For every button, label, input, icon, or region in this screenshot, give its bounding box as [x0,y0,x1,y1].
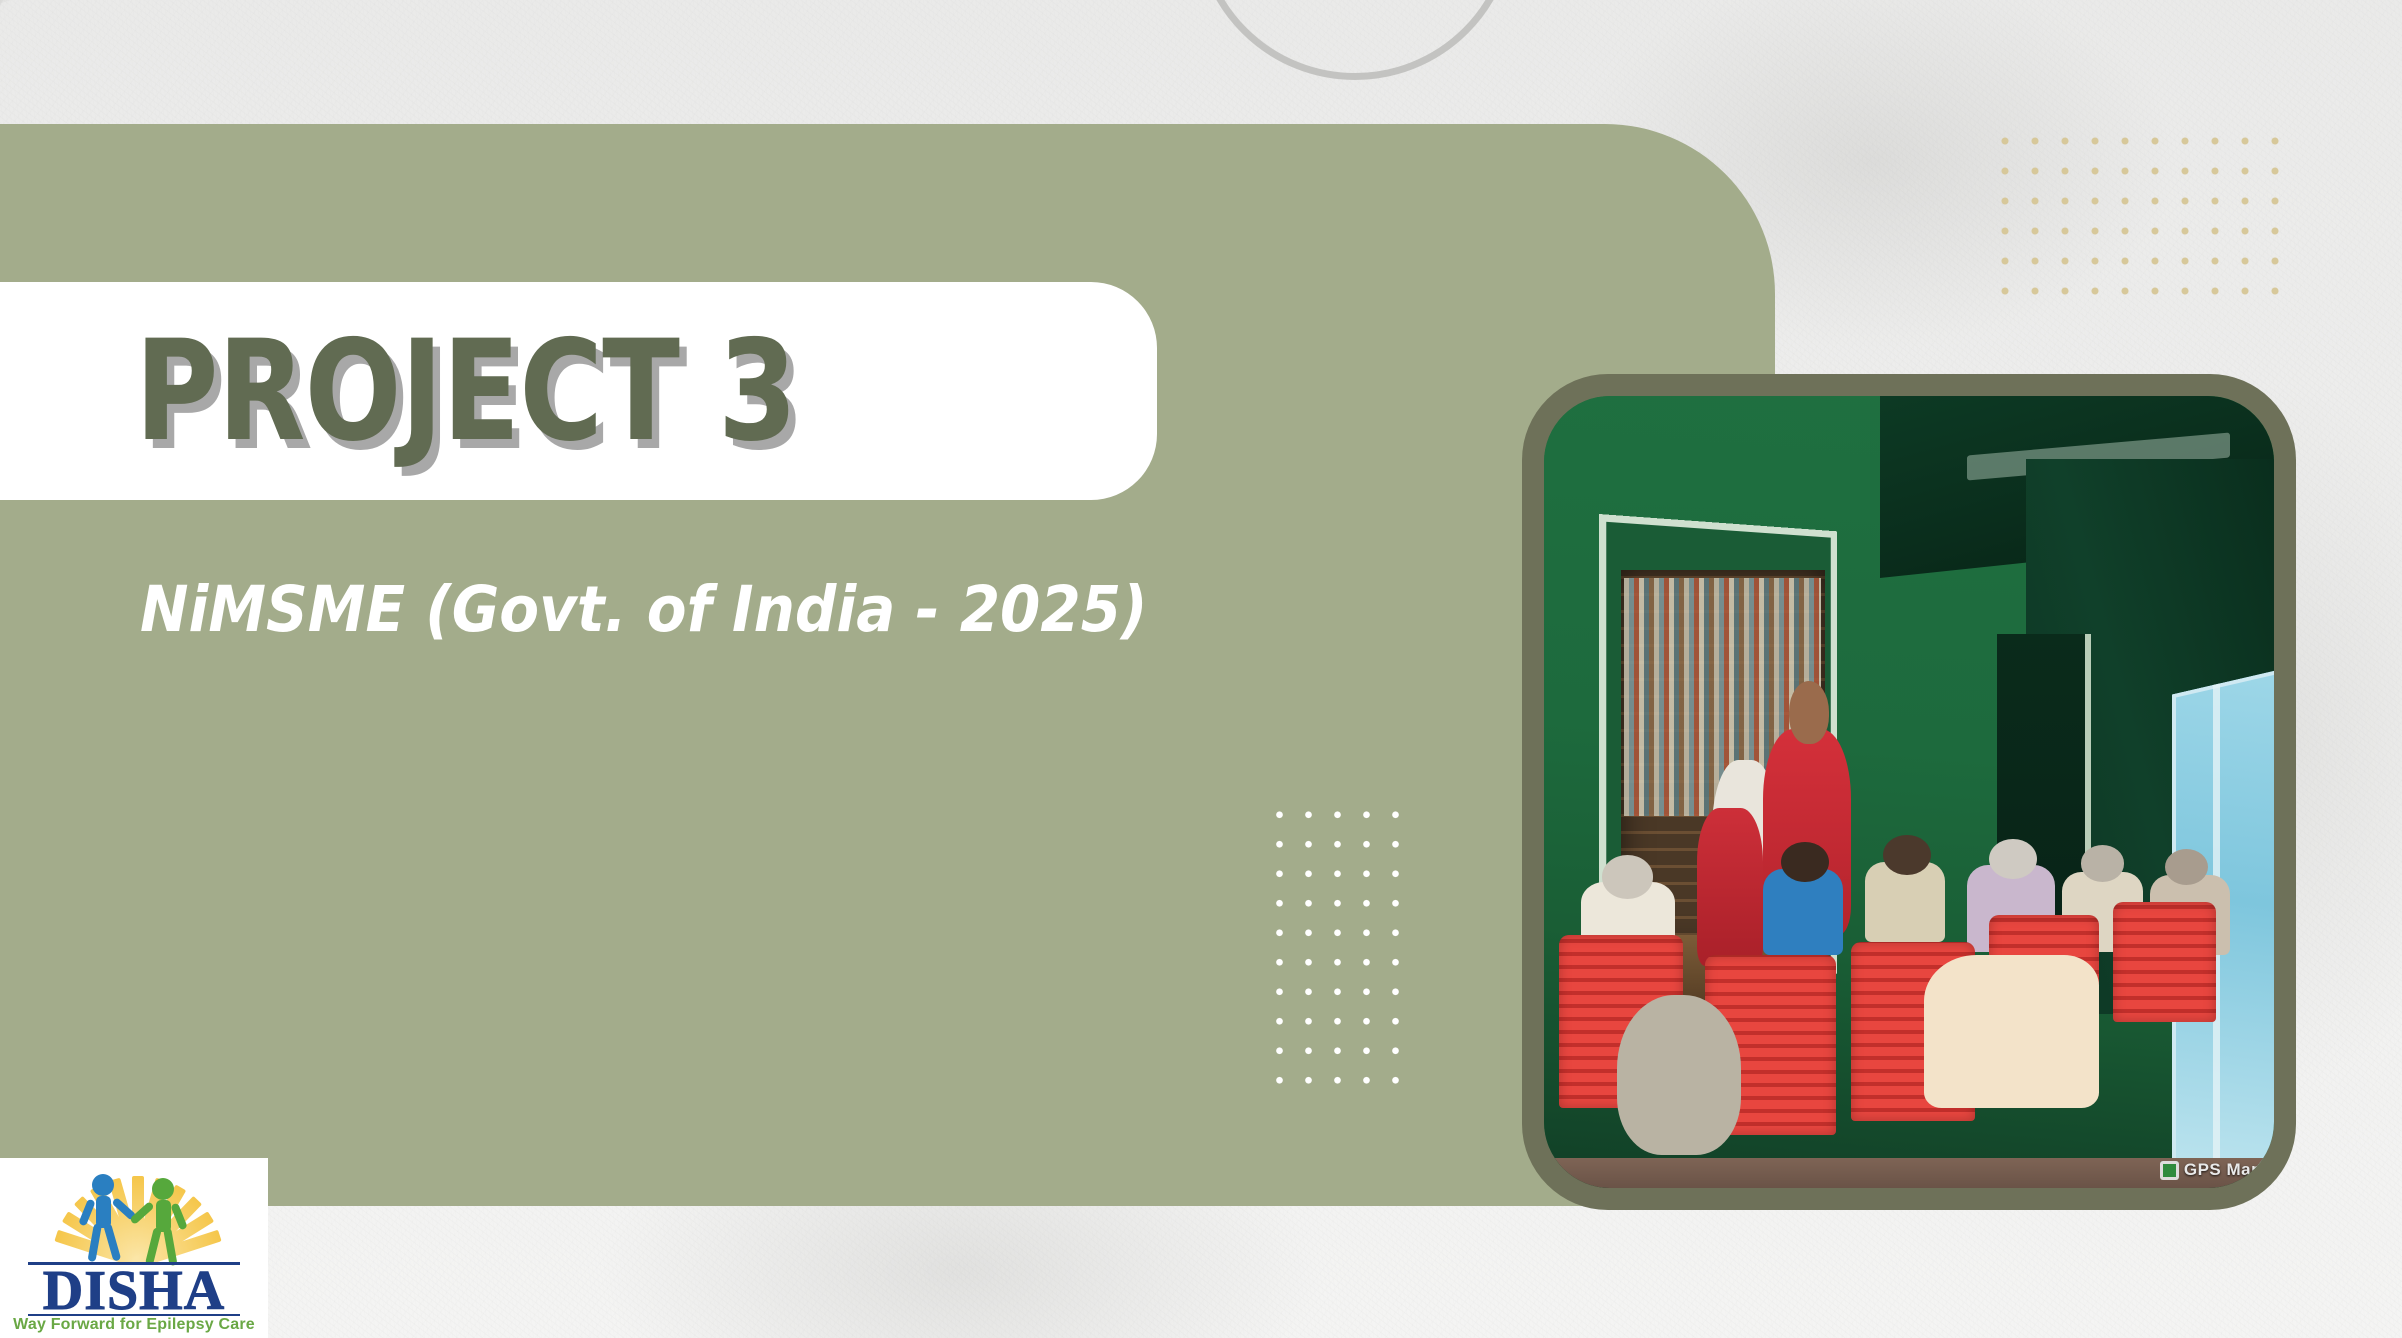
photo-audience [1544,855,2274,1188]
title-card: PROJECT 3 [0,282,1157,500]
photo-person-head [2081,845,2125,882]
figure-green-icon [146,1178,180,1266]
slide-canvas: PROJECT 3 NiMSME (Govt. of India - 2025) [0,0,2402,1338]
photo-person-head [1781,842,1828,882]
figure-blue-icon [86,1174,120,1262]
photo-gps-watermark: GPS Map [2160,1160,2262,1180]
disha-logo: DISHA Way Forward for Epilepsy Care [0,1158,268,1338]
photo-chair [2113,902,2215,1022]
photo-person-head [1602,855,1653,898]
photo-person-head [1989,839,2036,879]
white-dot-grid-decoration [1265,800,1420,1090]
session-photo: GPS Map [1544,396,2274,1188]
two-figures-icon [82,1172,190,1264]
photo-person-head [1617,995,1741,1155]
photo-presenter-head [1789,681,1830,744]
gps-map-icon [2160,1161,2179,1180]
logo-wordmark: DISHA [28,1262,240,1321]
photo-frame: GPS Map [1522,374,2296,1210]
page-title: PROJECT 3 [135,322,796,461]
photo-person-head [1883,835,1930,875]
subtitle: NiMSME (Govt. of India - 2025) [140,578,1148,641]
photo-person-body [1924,955,2099,1108]
tan-dot-grid-decoration [1990,126,2285,311]
gps-watermark-label: GPS Map [2184,1160,2262,1180]
logo-tagline: Way Forward for Epilepsy Care [10,1316,258,1334]
